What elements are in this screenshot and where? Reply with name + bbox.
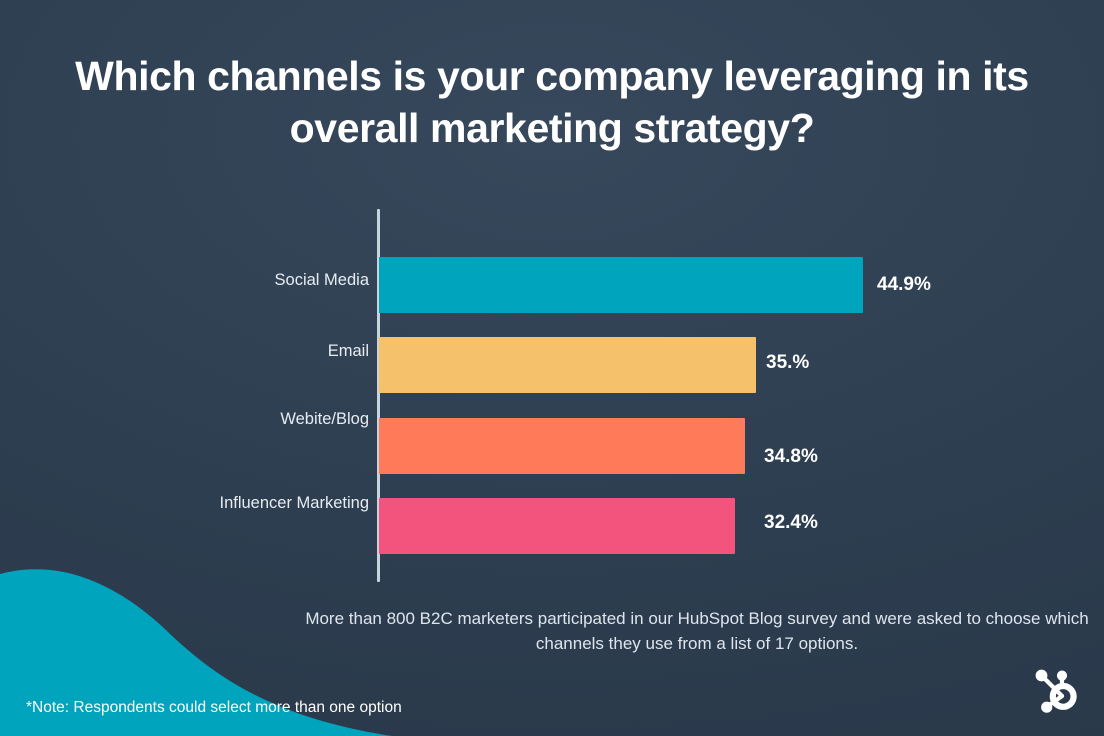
bar-row: Email 35.% xyxy=(0,337,1104,393)
bar-category-label: Email xyxy=(0,341,369,361)
bar-category-label: Social Media xyxy=(0,270,369,290)
bar-category-label: Webite/Blog xyxy=(0,409,369,429)
hubspot-sprocket-logo xyxy=(1028,663,1084,719)
bar-row: Influencer Marketing 32.4% xyxy=(0,498,1104,554)
chart-footnote: *Note: Respondents could select more tha… xyxy=(26,698,402,718)
infographic-canvas: Which channels is your company leveragin… xyxy=(0,0,1104,736)
bar-email xyxy=(379,337,756,393)
bar-row: Social Media 44.9% xyxy=(0,257,1104,313)
bar-social-media xyxy=(379,257,863,313)
bar-influencer-marketing xyxy=(379,498,735,554)
bar-website-blog xyxy=(379,418,745,474)
bar-value-label: 32.4% xyxy=(764,512,818,534)
bar-category-label: Influencer Marketing xyxy=(0,493,369,513)
bar-value-label: 35.% xyxy=(766,352,809,374)
bar-value-label: 44.9% xyxy=(877,274,931,296)
chart-caption: More than 800 B2C marketers participated… xyxy=(302,606,1092,656)
bar-row: Webite/Blog 34.8% xyxy=(0,418,1104,474)
bar-value-label: 34.8% xyxy=(764,446,818,468)
